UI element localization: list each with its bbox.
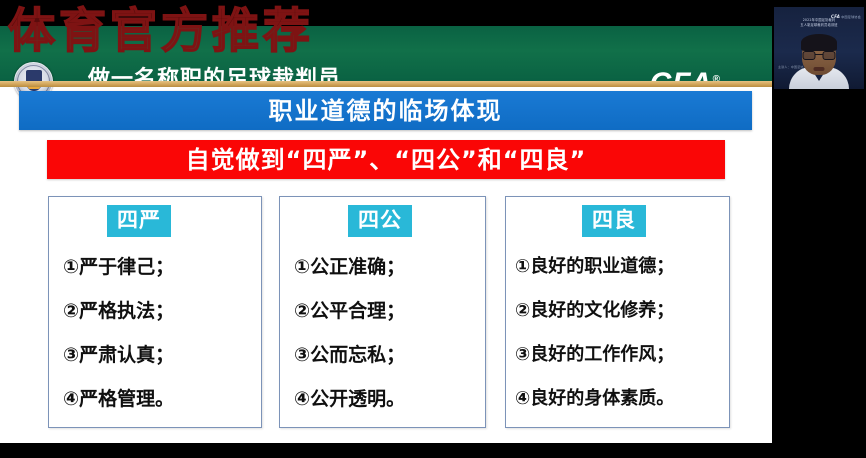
list-item: ①良好的职业道德； bbox=[515, 245, 723, 289]
section-banner-red-text: 自觉做到“四严”、“四公”和“四良” bbox=[186, 145, 587, 175]
content-box-list: ①公正准确； ②公平合理； ③公而忘私； ④公开透明。 bbox=[280, 245, 485, 421]
video-letterbox-bottom bbox=[772, 89, 866, 96]
video-overlay-title-line2: 五人制足球裁判员培训班 bbox=[790, 23, 848, 28]
glasses-lens-right bbox=[823, 51, 836, 60]
section-banner-blue: 职业道德的临场体现 bbox=[19, 91, 752, 130]
list-item: ①严于律己； bbox=[63, 245, 255, 289]
content-columns: 四严 ①严于律己； ②严格执法； ③严肃认真； ④严格管理。 四公 ①公正准确；… bbox=[0, 196, 772, 428]
list-item: ③严肃认真； bbox=[63, 333, 255, 377]
speaker-hair bbox=[801, 34, 837, 51]
slide-header-band: 做一名称职的足球裁判员 CFA® bbox=[0, 26, 772, 81]
video-speaker-label: 主讲人：中国足协 bbox=[778, 65, 804, 69]
content-box-sigong: 四公 ①公正准确； ②公平合理； ③公而忘私； ④公开透明。 bbox=[279, 196, 486, 428]
video-letterbox-top bbox=[772, 0, 866, 7]
screen: 做一名称职的足球裁判员 CFA® 职业道德的临场体现 自觉做到“四严”、“四公”… bbox=[0, 0, 866, 458]
content-box-siliang: 四良 ①良好的职业道德； ②良好的文化修养； ③良好的工作作风； ④良好的身体素… bbox=[505, 196, 730, 428]
content-box-heading: 四良 bbox=[582, 205, 646, 237]
speaker-mouth bbox=[814, 67, 825, 71]
speaker-video-thumbnail[interactable]: 2022年中国足协裁判 五人制足球裁判员培训班 CFA中国足球协会 主讲人：中国… bbox=[772, 0, 866, 96]
section-banner-red: 自觉做到“四严”、“四公”和“四良” bbox=[47, 140, 725, 179]
presentation-slide: 做一名称职的足球裁判员 CFA® 职业道德的临场体现 自觉做到“四严”、“四公”… bbox=[0, 0, 772, 443]
glasses-bridge bbox=[816, 54, 823, 55]
video-cfa-logo-subtext: 中国足球协会 bbox=[841, 15, 861, 19]
list-item: ④严格管理。 bbox=[63, 377, 255, 421]
list-item: ③公而忘私； bbox=[294, 333, 479, 377]
list-item: ②公平合理； bbox=[294, 289, 479, 333]
content-box-list: ①严于律己； ②严格执法； ③严肃认真； ④严格管理。 bbox=[49, 245, 261, 421]
list-item: ①公正准确； bbox=[294, 245, 479, 289]
speaker-glasses-icon bbox=[803, 51, 836, 60]
video-frame: 2022年中国足协裁判 五人制足球裁判员培训班 CFA中国足球协会 主讲人：中国… bbox=[774, 7, 864, 89]
content-box-list: ①良好的职业道德； ②良好的文化修养； ③良好的工作作风； ④良好的身体素质。 bbox=[506, 245, 729, 421]
content-box-heading: 四严 bbox=[107, 205, 171, 237]
slide-top-black-bar bbox=[0, 0, 772, 26]
list-item: ②良好的文化修养； bbox=[515, 289, 723, 333]
video-cfa-logo: CFA中国足球协会 bbox=[831, 14, 861, 19]
list-item: ④公开透明。 bbox=[294, 377, 479, 421]
list-item: ③良好的工作作风； bbox=[515, 333, 723, 377]
gold-divider bbox=[0, 81, 772, 87]
list-item: ②严格执法； bbox=[63, 289, 255, 333]
list-item: ④良好的身体素质。 bbox=[515, 377, 723, 421]
content-box-siyan: 四严 ①严于律己； ②严格执法； ③严肃认真； ④严格管理。 bbox=[48, 196, 262, 428]
video-overlay-title: 2022年中国足协裁判 五人制足球裁判员培训班 bbox=[790, 18, 848, 28]
glasses-lens-left bbox=[803, 51, 816, 60]
section-banner-blue-text: 职业道德的临场体现 bbox=[269, 96, 503, 126]
content-box-heading: 四公 bbox=[348, 205, 412, 237]
video-cfa-logo-text: CFA bbox=[831, 14, 840, 19]
